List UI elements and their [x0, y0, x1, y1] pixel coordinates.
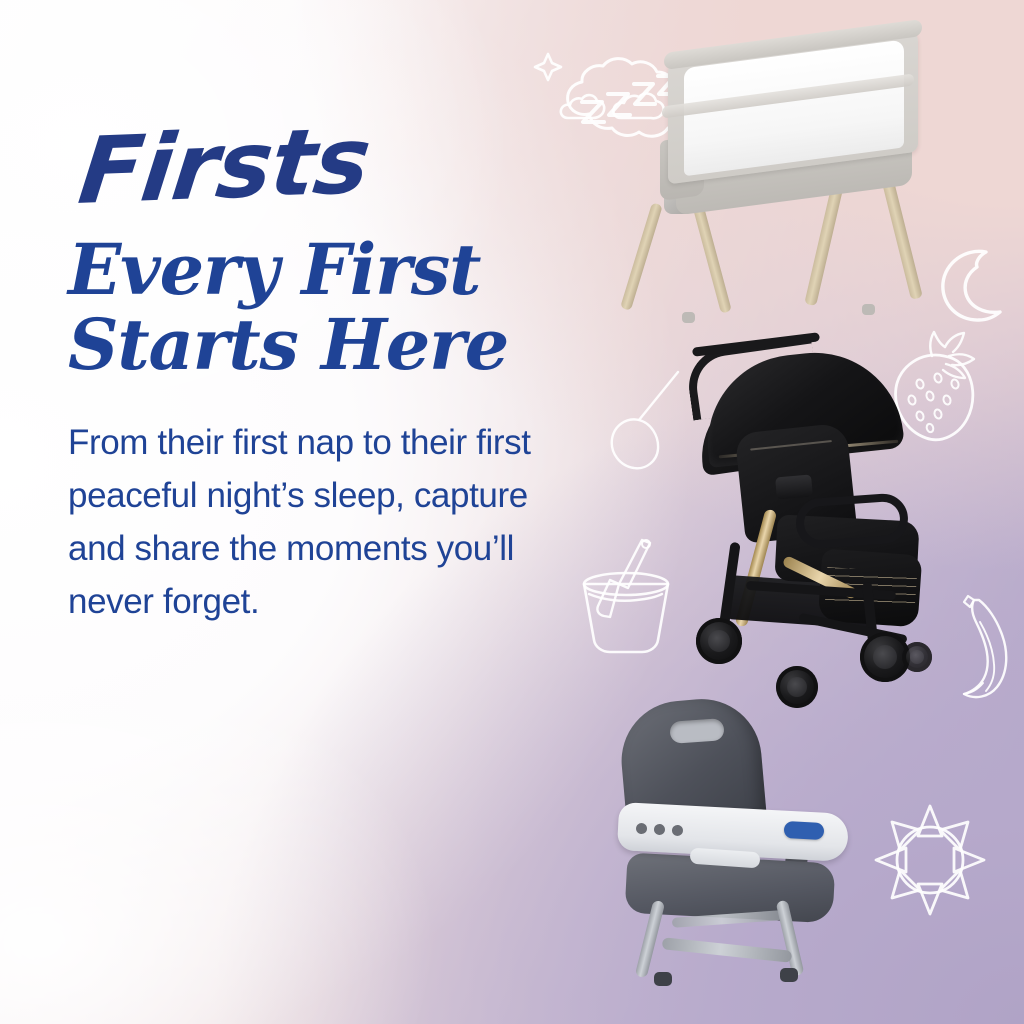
- sun-doodle: [872, 802, 988, 918]
- stroller-wheel: [902, 642, 932, 672]
- copy-block: Firsts Every First Starts Here From thei…: [68, 128, 588, 664]
- product-bassinet-bedside-crib: [646, 34, 946, 284]
- bassinet-foot: [862, 304, 875, 315]
- banana-doodle: [952, 592, 1024, 702]
- crescent-moon-doodle: [938, 246, 1006, 322]
- product-booster-seat: [608, 700, 888, 990]
- body-paragraph: From their first nap to their first peac…: [68, 416, 548, 629]
- booster-carry-handle: [669, 718, 724, 744]
- eyebrow-script-word: Firsts: [75, 109, 596, 216]
- brand-logo-badge: [784, 821, 825, 840]
- headline-line-1: Every First: [68, 228, 480, 311]
- hero-banner: Firsts Every First Starts Here From thei…: [0, 0, 1024, 1024]
- stroller-wheel: [696, 618, 742, 664]
- booster-foot: [654, 972, 672, 986]
- booster-foot: [780, 968, 798, 982]
- page-title: Every First Starts Here: [68, 233, 588, 381]
- product-compact-stroller: [680, 336, 956, 716]
- bassinet-leg: [882, 181, 923, 300]
- headline-line-2: Starts Here: [68, 308, 588, 382]
- booster-base-bar: [662, 937, 793, 963]
- bassinet-foot: [682, 312, 695, 323]
- stroller-bumper-bar: [794, 492, 909, 550]
- stroller-harness-pads: [775, 474, 813, 499]
